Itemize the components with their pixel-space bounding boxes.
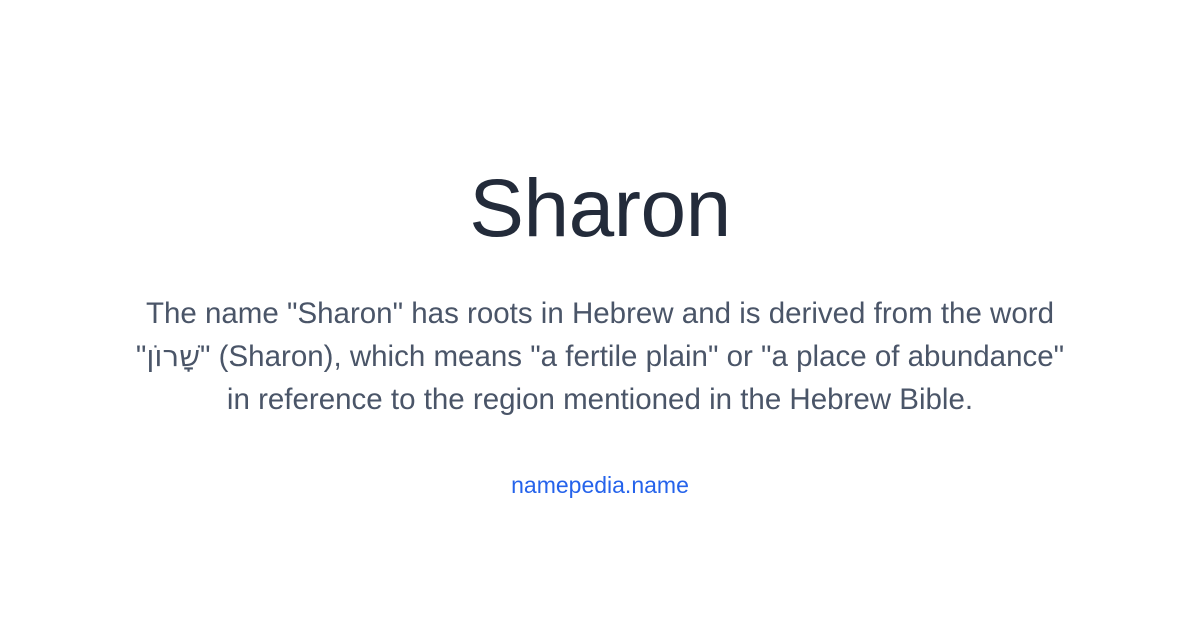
hebrew-word: שָׁרוֹן: [146, 339, 200, 373]
site-link[interactable]: namepedia.name: [511, 471, 689, 499]
page-title: Sharon: [469, 168, 730, 250]
name-info-card: Sharon The name "Sharon" has roots in He…: [0, 0, 1200, 630]
description-text-after-hebrew: " (Sharon), which means "a fertile plain…: [200, 340, 1064, 416]
name-description: The name "Sharon" has roots in Hebrew an…: [130, 292, 1070, 421]
